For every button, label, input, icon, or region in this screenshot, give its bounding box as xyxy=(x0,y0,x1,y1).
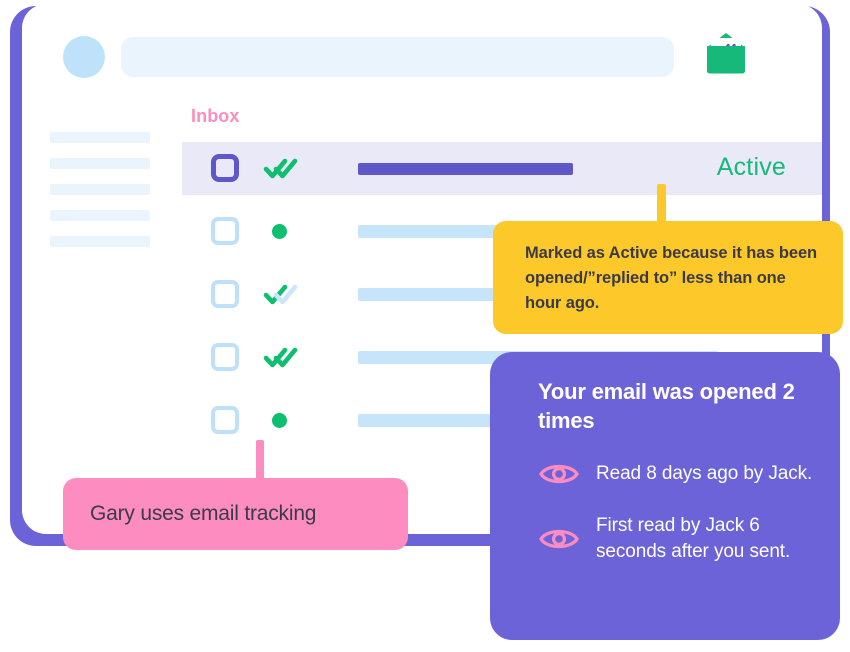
email-open-details-card: Your email was opened 2 times Read 8 day… xyxy=(490,352,840,640)
row-checkbox[interactable] xyxy=(211,406,239,434)
check-delivered-icon xyxy=(262,278,302,310)
dot-unread-icon xyxy=(262,215,302,247)
table-row[interactable]: Active xyxy=(182,142,822,195)
row-checkbox[interactable] xyxy=(211,217,239,245)
row-subject-bar xyxy=(358,163,573,175)
read-detail-text: First read by Jack 6 seconds after you s… xyxy=(596,513,818,565)
card-title: Your email was opened 2 times xyxy=(538,377,818,435)
read-detail-text: Read 8 days ago by Jack. xyxy=(596,461,812,487)
row-checkbox[interactable] xyxy=(211,154,239,182)
double-check-read-icon xyxy=(262,341,302,373)
tooltip-text: Marked as Active because it has been ope… xyxy=(525,241,817,316)
row-checkbox[interactable] xyxy=(211,343,239,371)
dot-unread-icon xyxy=(262,404,302,436)
tooltip-email-tracking: Gary uses email tracking xyxy=(63,478,408,550)
list-item: First read by Jack 6 seconds after you s… xyxy=(538,513,818,565)
tooltip-text: Gary uses email tracking xyxy=(90,502,316,526)
yellow-tooltip-stem xyxy=(657,184,666,226)
illustration-stage: Inbox Active xyxy=(0,0,850,652)
eye-icon xyxy=(538,524,580,554)
eye-icon xyxy=(538,459,580,489)
list-item: Read 8 days ago by Jack. xyxy=(538,459,818,489)
row-checkbox[interactable] xyxy=(211,280,239,308)
status-badge: Active xyxy=(717,153,786,182)
tooltip-active-explanation: Marked as Active because it has been ope… xyxy=(493,221,843,334)
double-check-read-icon xyxy=(262,152,302,184)
